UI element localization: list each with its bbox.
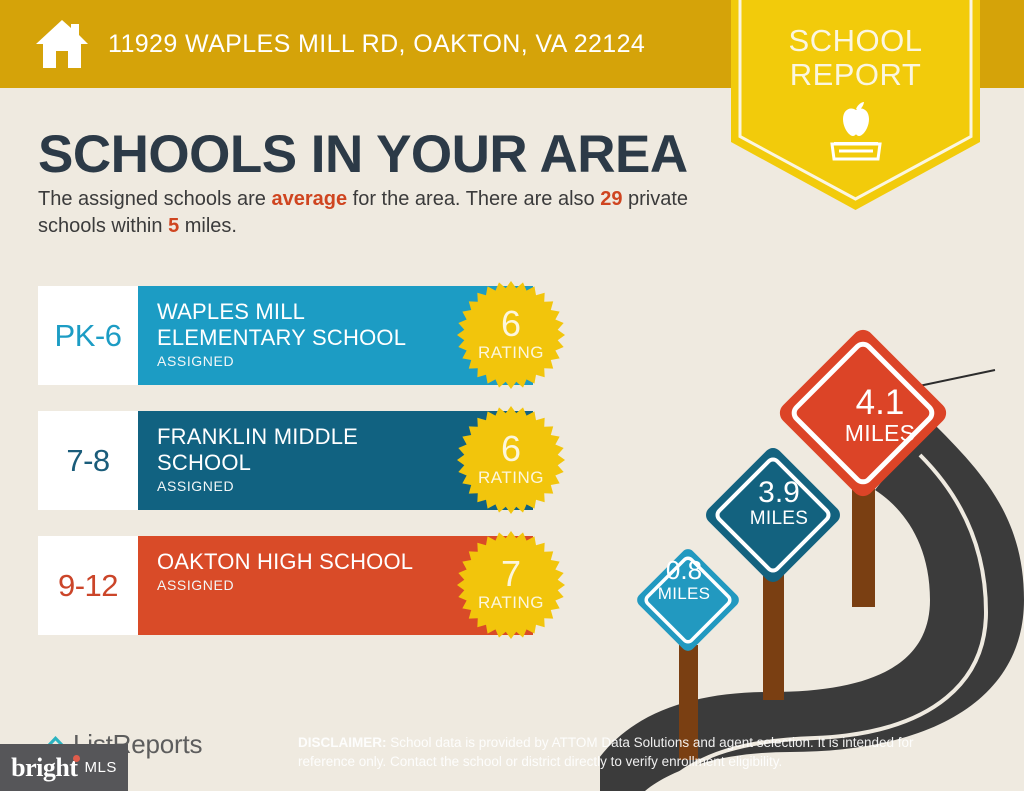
disclaimer-label: DISCLAIMER:: [298, 735, 387, 750]
subtitle-radius-miles: 5: [168, 215, 179, 237]
grade-range-box: 7-8: [38, 411, 138, 510]
property-address: 11929 WAPLES MILL RD, OAKTON, VA 22124: [108, 30, 645, 59]
school-report-infographic: 11929 WAPLES MILL RD, OAKTON, VA 22124 S…: [0, 0, 1024, 791]
grade-range-label: 9-12: [58, 568, 118, 604]
bright-text: bright: [11, 753, 77, 782]
grade-range-label: 7-8: [66, 443, 109, 479]
grade-range-label: PK-6: [55, 318, 122, 354]
subtitle: The assigned schools are average for the…: [38, 186, 738, 240]
sign-post: [763, 565, 784, 700]
subtitle-part-1: The assigned schools are: [38, 188, 271, 210]
school-name: FRANKLIN MIDDLE SCHOOL: [157, 424, 457, 476]
rating-starburst-badge: [457, 281, 565, 389]
subtitle-rating-word: average: [271, 188, 347, 210]
bright-dot-icon: [73, 755, 80, 762]
pennant-line-1: SCHOOL: [731, 24, 980, 58]
rating-starburst-badge: [457, 406, 565, 514]
apple-on-book-icon: [820, 100, 892, 162]
distance-sign-0: [634, 546, 741, 653]
grade-range-box: PK-6: [38, 286, 138, 385]
subtitle-part-2: for the area. There are also: [347, 188, 600, 210]
pennant-title: SCHOOL REPORT: [731, 24, 980, 92]
home-icon: [34, 18, 90, 70]
subtitle-part-4: miles.: [179, 215, 237, 237]
pennant-line-2: REPORT: [731, 58, 980, 92]
distance-sign-1: [702, 444, 843, 585]
page-title: SCHOOLS IN YOUR AREA: [38, 124, 688, 185]
disclaimer-text: DISCLAIMER: School data is provided by A…: [298, 733, 970, 771]
bright-wordmark: bright: [11, 753, 77, 783]
bright-mls-watermark: bright MLS: [0, 744, 128, 791]
school-name: OAKTON HIGH SCHOOL: [157, 549, 457, 575]
pennant-emblem: [731, 100, 980, 167]
rating-starburst-badge: [457, 531, 565, 639]
disclaimer-body: School data is provided by ATTOM Data So…: [298, 735, 914, 769]
grade-range-box: 9-12: [38, 536, 138, 635]
school-name: WAPLES MILL ELEMENTARY SCHOOL: [157, 299, 457, 351]
road-with-distance-signs: [600, 300, 1024, 791]
mls-suffix: MLS: [85, 759, 117, 776]
subtitle-private-count: 29: [600, 188, 622, 210]
